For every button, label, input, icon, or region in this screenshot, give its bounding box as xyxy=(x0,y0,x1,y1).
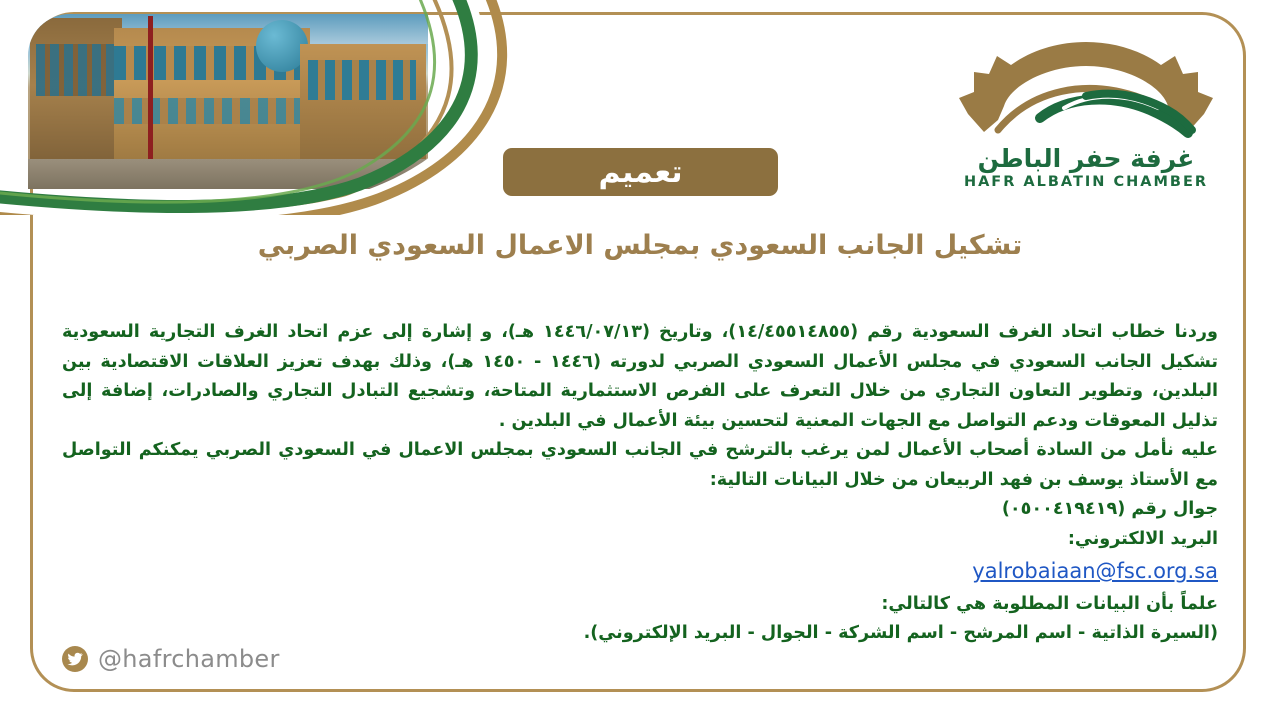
header-artwork xyxy=(0,0,560,215)
email-line: yalrobaiaan@fsc.org.sa xyxy=(62,554,1218,589)
page-title: تشكيل الجانب السعودي بمجلس الاعمال السعو… xyxy=(0,228,1280,264)
circular-type-badge: تعميم xyxy=(503,148,778,196)
announcement-page: غرفة حفر الباطن HAFR ALBATIN CHAMBER تعم… xyxy=(0,0,1280,720)
twitter-handle-text[interactable]: @hafrchamber xyxy=(98,645,280,673)
email-label: البريد الالكتروني: xyxy=(62,525,1218,555)
requirements-intro: علماً بأن البيانات المطلوبة هي كالتالي: xyxy=(62,590,1218,620)
document-body: وردنا خطاب اتحاد الغرف السعودية رقم (١٤/… xyxy=(62,318,1218,649)
logo-english-name: HAFR ALBATIN CHAMBER xyxy=(936,174,1236,190)
social-handle-group[interactable]: @hafrchamber xyxy=(62,645,280,673)
body-paragraph-2: عليه نأمل من السادة أصحاب الأعمال لمن ير… xyxy=(62,436,1218,495)
chamber-logo: غرفة حفر الباطن HAFR ALBATIN CHAMBER xyxy=(936,34,1236,194)
email-address-link[interactable]: yalrobaiaan@fsc.org.sa xyxy=(972,559,1218,583)
chamber-logo-gear-icon xyxy=(936,34,1236,150)
header-swoosh-decoration xyxy=(0,0,560,215)
twitter-icon[interactable] xyxy=(62,646,88,672)
mobile-number-line: جوال رقم (٠٥٠٠٤١٩٤١٩) xyxy=(62,495,1218,525)
logo-arabic-name: غرفة حفر الباطن xyxy=(936,146,1236,172)
body-paragraph-1: وردنا خطاب اتحاد الغرف السعودية رقم (١٤/… xyxy=(62,318,1218,436)
